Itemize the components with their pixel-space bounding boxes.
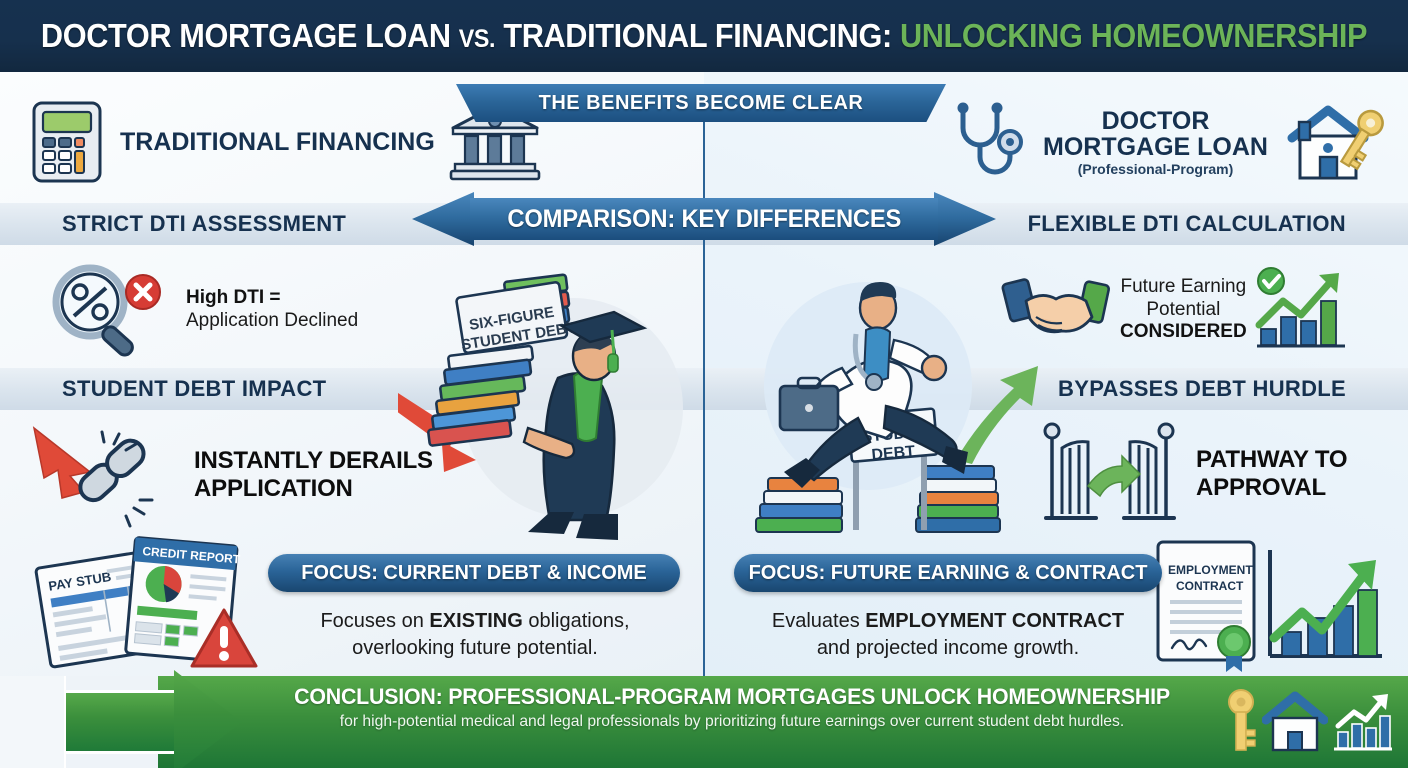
stethoscope-icon xyxy=(945,98,1029,186)
left-focus-description: Focuses on EXISTING obligations, overloo… xyxy=(250,608,700,662)
title-highlight: Unlocking Homeownership xyxy=(900,17,1367,54)
band-flexible-dti-label: FLEXIBLE DTI CALCULATION xyxy=(1028,211,1346,237)
left-focus-pill: FOCUS: CURRENT DEBT & INCOME xyxy=(268,554,680,592)
left-point1-line1: High DTI = xyxy=(186,287,358,310)
left-focus-desc-b: obligations, xyxy=(523,610,630,632)
right-point2-line1: PATHWAY TO xyxy=(1196,446,1347,474)
right-brand-title-line2: MORTGAGE LOAN xyxy=(1043,134,1268,161)
left-brand-title-text: TRADITIONAL FINANCING xyxy=(120,128,435,156)
pay-stub-credit-report-icons: PAY STUB CREDIT REPORT xyxy=(16,534,274,680)
left-point-high-dti: High DTI = Application Declined xyxy=(40,258,430,362)
calculator-icon xyxy=(28,99,106,185)
band-bypasses-debt-hurdle-label: BYPASSES DEBT HURDLE xyxy=(1058,376,1346,402)
left-focus-desc-bold: EXISTING xyxy=(429,610,522,632)
left-brand-title: TRADITIONAL FINANCING xyxy=(120,129,435,156)
conclusion-banner: CONCLUSION: PROFESSIONAL-PROGRAM MORTGAG… xyxy=(62,676,1408,768)
employment-contract-chart-icons: EMPLOYMENT CONTRACT xyxy=(1150,534,1400,680)
comparison-arrow-label: COMPARISON: KEY DIFFERENCES xyxy=(507,205,901,234)
growth-chart-icon xyxy=(1332,690,1394,752)
conclusion-icons xyxy=(1224,688,1394,754)
growth-bar-chart-icon xyxy=(1253,267,1353,353)
left-focus-desc-line2: overlooking future potential. xyxy=(250,635,700,662)
right-point-pathway: PATHWAY TO APPROVAL xyxy=(1040,418,1408,530)
band-strict-dti-label: STRICT DTI ASSESSMENT xyxy=(62,211,346,237)
right-brand-title: DOCTOR MORTGAGE LOAN (Professional-Progr… xyxy=(1043,108,1268,177)
right-point1-line3: CONSIDERED xyxy=(1120,321,1247,344)
seal-icon xyxy=(1218,626,1250,672)
comparison-arrow-head-left xyxy=(412,192,474,246)
house-icon xyxy=(1262,688,1328,754)
graduate-carrying-books-illustration: SIX-FIGURE STUDENT DEBT xyxy=(398,268,708,540)
left-point1-line2: Application Declined xyxy=(186,310,358,333)
comparison-arrow-head-right xyxy=(934,192,996,246)
band-student-debt-impact-label: STUDENT DEBT IMPACT xyxy=(62,376,326,402)
left-point-derails: INSTANTLY DERAILS APPLICATION xyxy=(22,420,442,530)
title-part2: Traditional Financing: xyxy=(503,17,891,54)
right-focus-pill-label: FOCUS: FUTURE EARNING & CONTRACT xyxy=(749,562,1148,585)
broken-chain-icon xyxy=(22,420,172,530)
bottom-left-notch xyxy=(0,676,66,768)
page-title: Doctor Mortgage Loan vs. Traditional Fin… xyxy=(41,17,1367,55)
house-key-icon xyxy=(1282,100,1386,184)
right-focus-pill: FOCUS: FUTURE EARNING & CONTRACT xyxy=(734,554,1162,592)
right-focus-desc-bold: EMPLOYMENT CONTRACT xyxy=(865,610,1124,632)
right-focus-desc-line2: and projected income growth. xyxy=(718,635,1178,662)
employment-contract-label-line1: EMPLOYMENT xyxy=(1168,563,1253,577)
subtitle-ribbon: THE BENEFITS BECOME CLEAR xyxy=(456,84,946,122)
title-part1: Doctor Mortgage Loan xyxy=(41,17,451,54)
comparison-arrow-banner: COMPARISON: KEY DIFFERENCES xyxy=(412,192,996,246)
right-focus-desc-a: Evaluates xyxy=(772,610,865,632)
right-point-future-earning: Future Earning Potential CONSIDERED xyxy=(1000,256,1400,364)
right-brand-subtitle: (Professional-Program) xyxy=(1043,162,1268,177)
magnifier-percent-icon xyxy=(40,258,170,362)
key-icon xyxy=(1224,688,1258,754)
left-point2-line1: INSTANTLY DERAILS xyxy=(194,447,433,475)
infographic-canvas: Doctor Mortgage Loan vs. Traditional Fin… xyxy=(0,0,1408,768)
conclusion-line1: CONCLUSION: PROFESSIONAL-PROGRAM MORTGAG… xyxy=(228,684,1237,710)
right-point1-line2: Potential xyxy=(1120,299,1247,322)
left-focus-desc-a: Focuses on xyxy=(320,610,429,632)
right-focus-description: Evaluates EMPLOYMENT CONTRACT and projec… xyxy=(718,608,1178,662)
doctor-jumping-hurdle-illustration: STUDENT DEBT xyxy=(738,268,1038,540)
left-brand-header: TRADITIONAL FINANCING xyxy=(28,92,541,192)
subtitle-ribbon-label: THE BENEFITS BECOME CLEAR xyxy=(539,92,864,115)
left-point2-line2: APPLICATION xyxy=(194,475,433,503)
conclusion-arrow-shaft xyxy=(62,690,182,754)
left-focus-pill-label: FOCUS: CURRENT DEBT & INCOME xyxy=(301,562,647,585)
title-vs: vs. xyxy=(459,25,495,53)
conclusion-line2: for high-potential medical and legal pro… xyxy=(222,713,1241,731)
right-brand-title-line1: DOCTOR xyxy=(1043,108,1268,135)
handshake-icon xyxy=(1000,265,1112,355)
growth-chart-icon xyxy=(1270,550,1382,656)
right-point2-line2: APPROVAL xyxy=(1196,474,1347,502)
conclusion-text: CONCLUSION: PROFESSIONAL-PROGRAM MORTGAG… xyxy=(212,684,1252,731)
right-point1-line1: Future Earning xyxy=(1120,276,1247,299)
page-title-bar: Doctor Mortgage Loan vs. Traditional Fin… xyxy=(0,0,1408,72)
right-brand-header: DOCTOR MORTGAGE LOAN (Professional-Progr… xyxy=(945,92,1386,192)
employment-contract-label-line2: CONTRACT xyxy=(1176,579,1244,593)
open-gate-icon xyxy=(1040,418,1180,530)
